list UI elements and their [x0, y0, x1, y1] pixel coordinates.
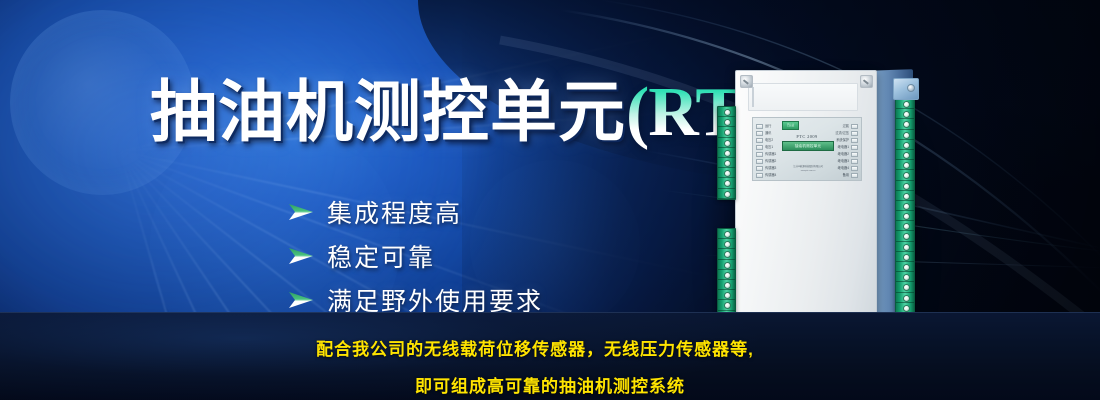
indicator-item: 继电器1 — [835, 144, 858, 151]
terminal-block-left-bottom — [717, 228, 736, 322]
indicator-item: 电压2 — [756, 137, 776, 144]
list-item: 集成程度高 — [288, 192, 543, 232]
indicator-label: 传感器4 — [765, 172, 776, 179]
indicator-item: 传感器4 — [756, 172, 776, 179]
led-icon — [851, 145, 858, 150]
indicator-label: 传感器2 — [765, 158, 776, 165]
led-icon — [756, 138, 763, 143]
arrow-right-icon — [288, 291, 314, 309]
indicator-item: 传感器1 — [756, 151, 776, 158]
indicator-label: 继电器4 — [838, 165, 849, 172]
product-banner: 抽油机测控单元(RTU) 集成程度高 — [0, 0, 1100, 400]
indicator-item: 传感器2 — [756, 158, 776, 165]
device-top-bracket — [893, 78, 919, 100]
led-icon — [851, 159, 858, 164]
indicator-label: 备用 — [843, 172, 849, 179]
screw-icon — [740, 75, 753, 88]
led-icon — [756, 173, 763, 178]
indicator-item: 备用 — [835, 172, 858, 179]
device-website-text: www.ptc.com.cn — [773, 170, 843, 172]
device-model-text: PTC 2009 — [783, 134, 831, 139]
indicator-label: 电压2 — [765, 137, 773, 144]
led-icon — [851, 131, 858, 136]
feature-bullet-list: 集成程度高 稳定可靠 满足野外使用要求 — [288, 192, 543, 324]
arrow-right-icon — [288, 203, 314, 221]
bullet-label: 稳定可靠 — [327, 238, 435, 274]
indicator-list-right: 过载 过流/过压 系统保护 继电器1 继电器2 继电器3 继电器4 备用 — [835, 123, 858, 179]
device-lcd-display: 抽油机测控单元 — [782, 141, 834, 151]
indicator-item: 继电器4 — [835, 165, 858, 172]
indicator-label: 系统保护 — [836, 137, 849, 144]
indicator-label: 电压1 — [765, 144, 773, 151]
indicator-list-left: 运行 通讯 电压2 电压1 传感器1 传感器2 传感器3 传感器4 — [756, 123, 776, 179]
device-label-plate: 已认证 PTC 2009 抽油机测控单元 江苏xx能源科技股份有限公司 www.… — [752, 117, 862, 181]
led-icon — [756, 124, 763, 129]
indicator-label: 运行 — [765, 123, 771, 130]
led-icon — [756, 131, 763, 136]
indicator-item: 系统保护 — [835, 137, 858, 144]
indicator-label: 传感器3 — [765, 165, 776, 172]
indicator-item: 电压1 — [756, 144, 776, 151]
certification-badge: 已认证 — [782, 121, 799, 130]
device-top-slot — [748, 83, 858, 111]
indicator-item: 过载 — [835, 123, 858, 130]
indicator-label: 通讯 — [765, 130, 771, 137]
bullet-label: 集成程度高 — [327, 194, 462, 230]
caption-line-1: 配合我公司的无线载荷位移传感器，无线压力传感器等, — [0, 335, 1100, 360]
led-icon — [851, 138, 858, 143]
led-icon — [851, 166, 858, 171]
indicator-item: 传感器3 — [756, 165, 776, 172]
indicator-label: 传感器1 — [765, 151, 776, 158]
headline-chinese: 抽油机测控单元 — [150, 75, 626, 150]
led-icon — [756, 152, 763, 157]
indicator-item: 过流/过压 — [835, 130, 858, 137]
indicator-label: 继电器1 — [838, 144, 849, 151]
list-item: 稳定可靠 — [288, 236, 543, 276]
led-icon — [851, 173, 858, 178]
indicator-label: 继电器2 — [838, 151, 849, 158]
indicator-item: 通讯 — [756, 130, 776, 137]
led-icon — [756, 159, 763, 164]
indicator-label: 过载 — [843, 123, 849, 130]
indicator-label: 过流/过压 — [835, 130, 849, 137]
indicator-item: 运行 — [756, 123, 776, 130]
led-icon — [756, 166, 763, 171]
caption-line-2: 即可组成高可靠的抽油机测控系统 — [0, 372, 1100, 397]
led-icon — [756, 145, 763, 150]
device-company-text: 江苏xx能源科技股份有限公司 — [773, 164, 843, 168]
terminal-block-left-top — [717, 106, 736, 200]
screw-icon — [860, 75, 873, 88]
arrow-right-icon — [288, 247, 314, 265]
indicator-item: 继电器2 — [835, 151, 858, 158]
indicator-item: 继电器3 — [835, 158, 858, 165]
led-icon — [851, 124, 858, 129]
indicator-label: 继电器3 — [838, 158, 849, 165]
led-icon — [851, 152, 858, 157]
